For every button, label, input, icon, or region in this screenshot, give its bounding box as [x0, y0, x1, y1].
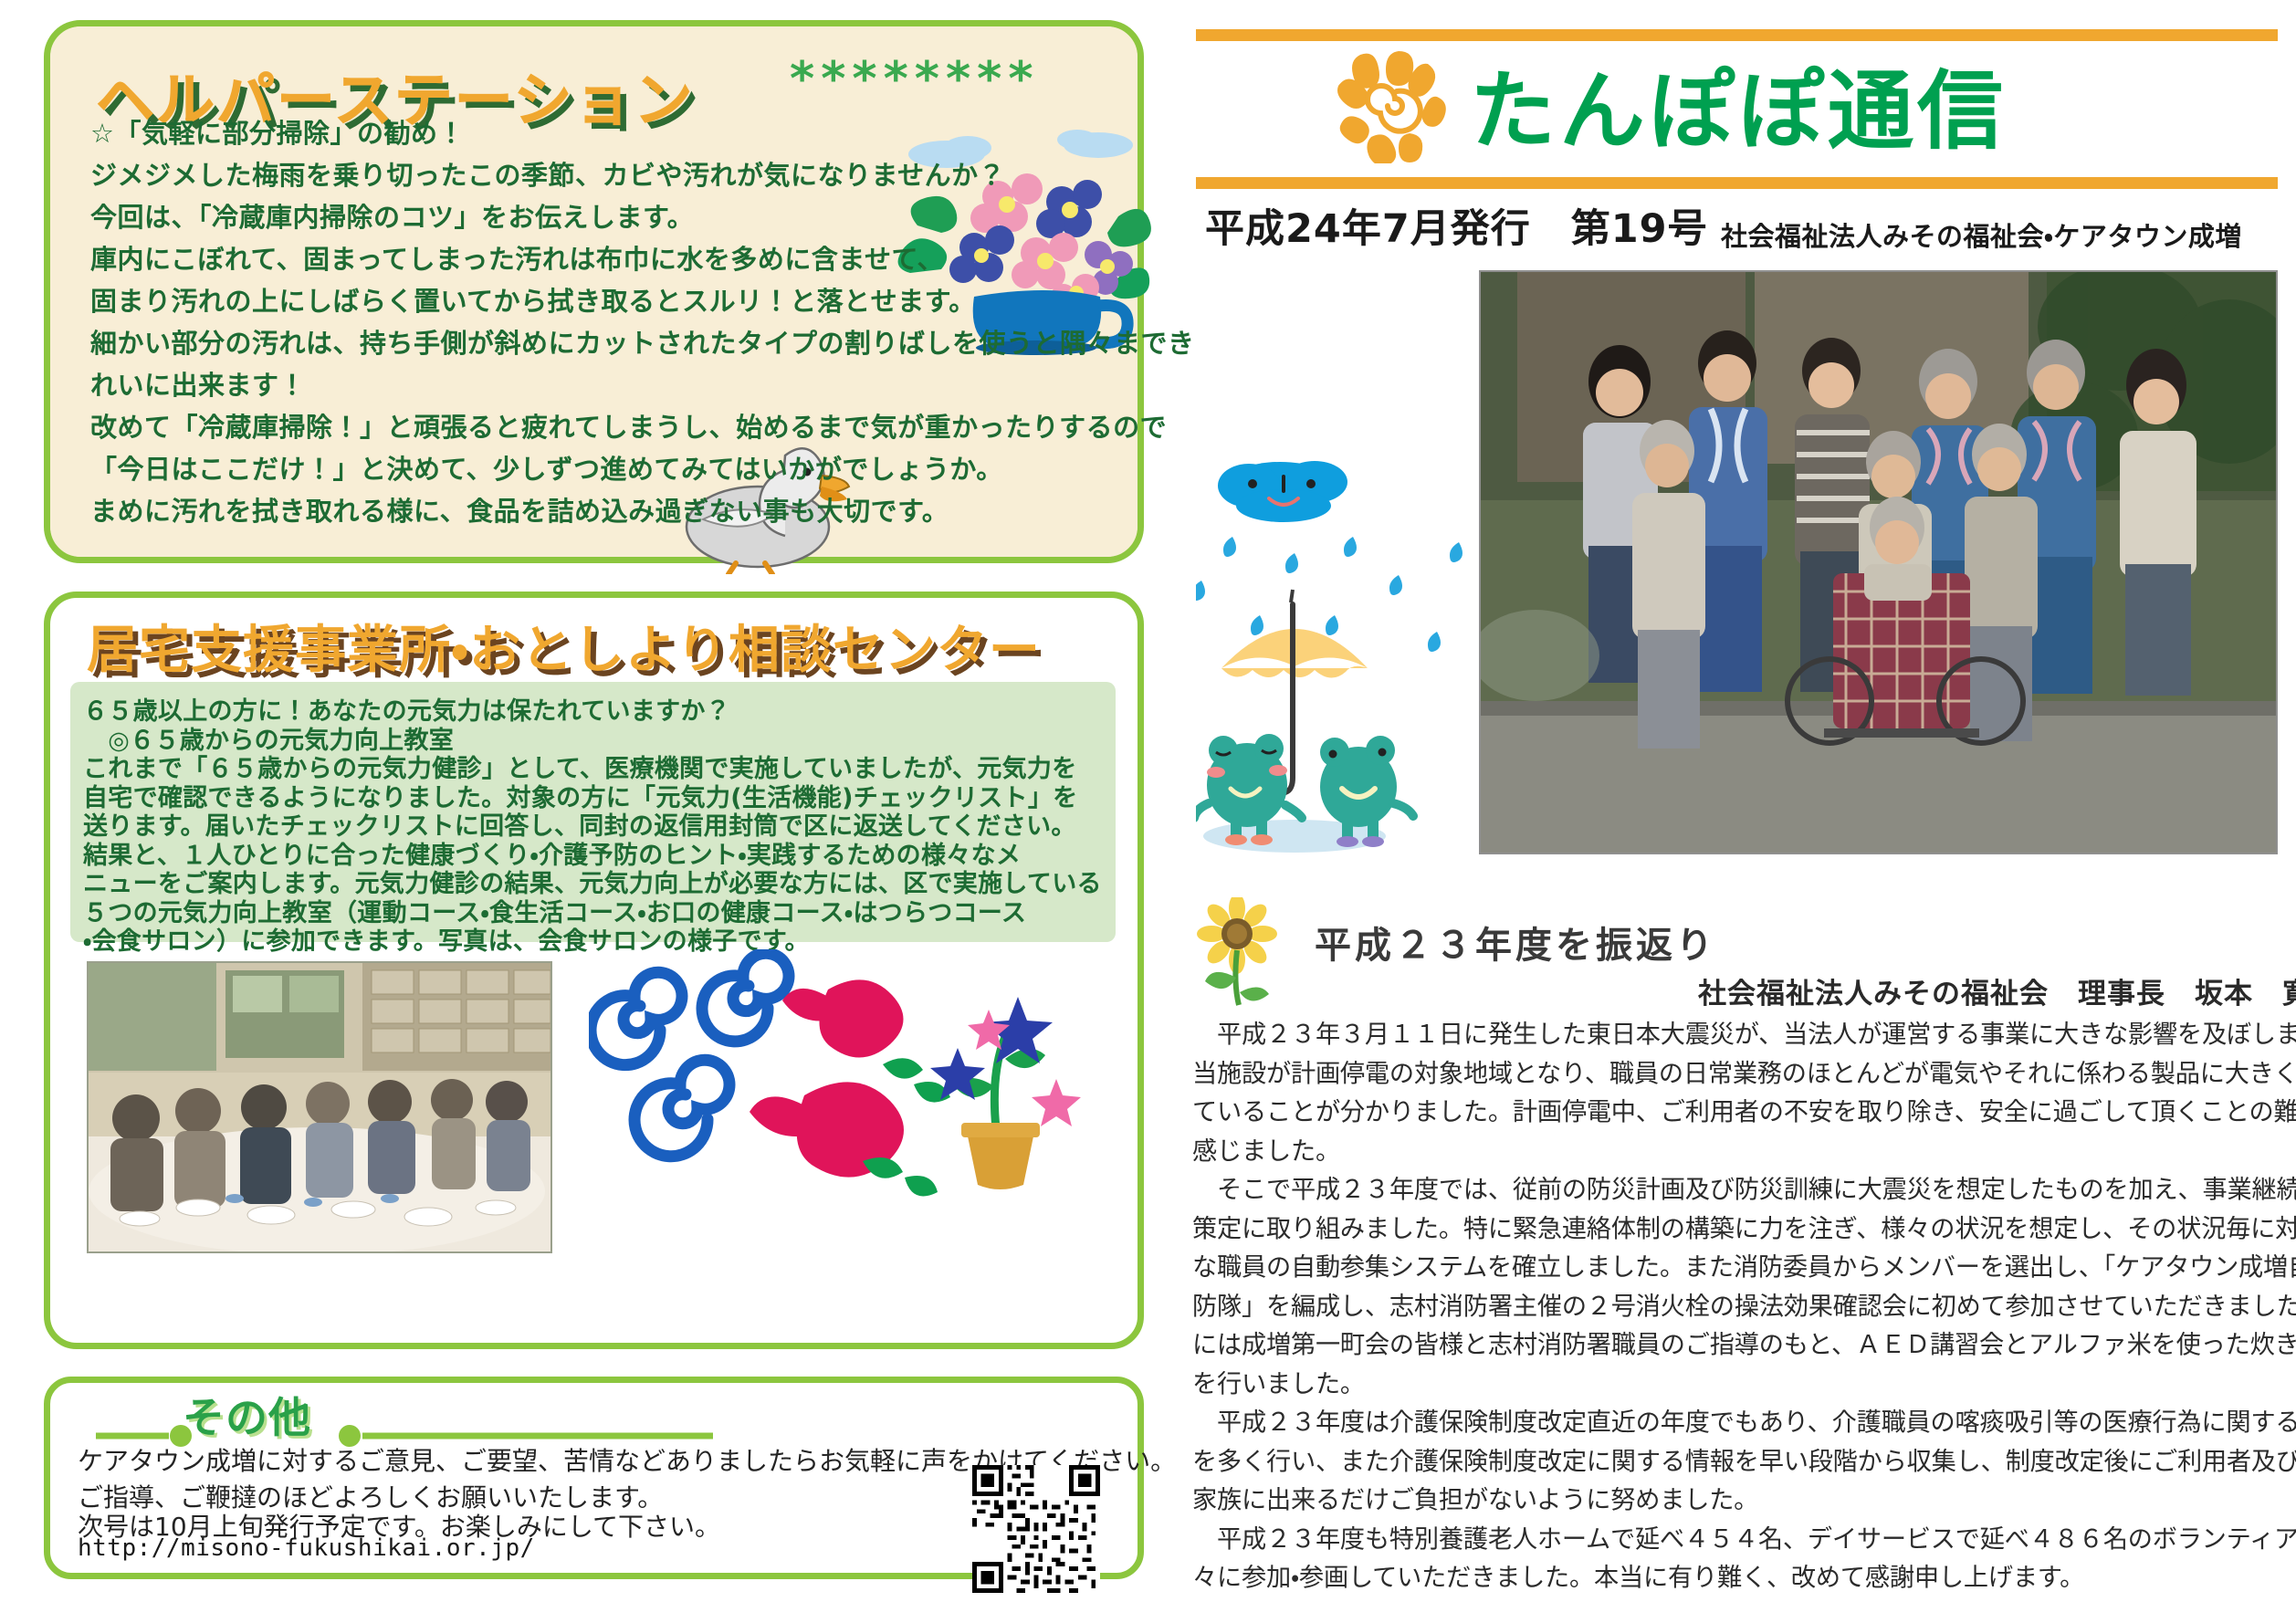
- article-line: 平成２３年度も特別養護老人ホームで延べ４５４名、デイサービスで延べ４８６名のボラ…: [1192, 1521, 2274, 1560]
- home-care-support-panel: 居宅支援事業所・おとしより相談センター ６５歳以上の方に！あなたの元気力は保たれ…: [44, 592, 1144, 1349]
- article-title: 平成２３年度を振返り: [1315, 916, 1716, 969]
- article-line: 平成２３年度は介護保険制度改定直近の年度でもあり、介護職員の喀痰吸引等の医療行為…: [1192, 1404, 2274, 1443]
- other-info-title: その他: [183, 1385, 311, 1445]
- right-column: たんぽぽ通信 平成24年7月発行 第19号 社会福祉法人みその福祉会・ケアタウン…: [1187, 16, 2278, 1586]
- article-line: 策定に取り組みました。特に緊急連絡体制の構築に力を注ぎ、様々の状況を想定し、その…: [1192, 1210, 2274, 1250]
- genki-info-box: ６５歳以上の方に！あなたの元気力は保たれていますか？ ◎６５歳からの元気力向上教…: [70, 682, 1116, 942]
- decorative-artwork: [589, 949, 1127, 1264]
- article-line: 防隊」を編成し、志村消防署主催の２号消火栓の操法効果確認会に初めて参加させていた…: [1192, 1288, 2274, 1327]
- organization-name: 社会福祉法人みその福祉会・ケアタウン成増: [1721, 215, 2242, 254]
- article-line: 当施設が計画停電の対象地域となり、職員の日常業務のほとんどが電気やそれに係わる製…: [1192, 1055, 2274, 1094]
- article-line: 家族に出来るだけご負担がないように努めました。: [1192, 1482, 2274, 1521]
- home-care-support-title: 居宅支援事業所・おとしより相談センター: [87, 609, 1041, 683]
- helper-station-line-5: 固まり汚れの上にしばらく置いてから拭き取るとスルリ！と落とせます。: [90, 280, 976, 319]
- article-line: そこで平成２３年度では、従前の防災計画及び防災訓練に大震災を想定したものを加え、…: [1192, 1171, 2274, 1210]
- masthead-top-bar: [1196, 29, 2278, 41]
- helper-station-line-3: 今回は、「冷蔵庫内掃除のコツ」をお伝えします。: [90, 196, 694, 235]
- article-body: 平成２３年３月１１日に発生した東日本大震災が、当法人が運営する事業に大きな影響を…: [1192, 1016, 2274, 1602]
- article-paragraph-3: 平成２３年度は介護保険制度改定直近の年度でもあり、介護職員の喀痰吸引等の医療行為…: [1192, 1404, 2274, 1521]
- asterisk-decoration: ********: [790, 52, 1040, 107]
- dandelion-sun-logo: [1333, 49, 1452, 163]
- article-line: 々に参加・参画していただきました。本当に有り難く、改めて感謝申し上げます。: [1192, 1559, 2274, 1598]
- helper-station-line-6: 細かい部分の汚れは、持ち手側が斜めにカットされたタイプの割りばしを使うと隅々まで…: [90, 322, 1195, 361]
- newsletter-page: ヘルパーステーション ********: [0, 0, 2296, 1602]
- helper-station-line-10: まめに汚れを拭き取れる様に、食品を詰め込み過ぎない事も大切です。: [90, 490, 949, 529]
- other-info-panel: その他 ケアタウン成増に対するご意見、ご要望、苦情などありましたらお気軽に声をか…: [44, 1377, 1144, 1579]
- helper-station-line-8: 改めて「冷蔵庫掃除！」と頑張ると疲れてしまうし、始めるまで気が重かったりするので: [90, 406, 1167, 445]
- helper-station-panel: ヘルパーステーション ********: [44, 20, 1144, 563]
- article-line: を多く行い、また介護保険制度改定に関する情報を早い段階から収集し、制度改定後にご…: [1192, 1443, 2274, 1482]
- website-url[interactable]: http://misono-fukushikai.or.jp/: [78, 1534, 535, 1562]
- masthead-title: たんぽぽ通信: [1470, 42, 2007, 166]
- hydrangea-teacup-illustration: [890, 118, 1155, 355]
- masthead-bottom-bar: [1196, 177, 2278, 189]
- helper-station-line-9: 「今日はここだけ！」と決めて、少しずつ進めてみてはいかがでしょうか。: [90, 448, 1003, 487]
- helper-station-line-2: ジメジメした梅雨を乗り切ったこの季節、カビや汚れが気になりませんか？: [90, 154, 1005, 193]
- left-column: ヘルパーステーション ********: [27, 16, 1164, 1582]
- group-photo: [1479, 270, 2278, 854]
- article-paragraph-1: 平成２３年３月１１日に発生した東日本大震災が、当法人が運営する事業に大きな影響を…: [1192, 1016, 2274, 1171]
- article-line: ていることが分かりました。計画停電中、ご利用者の不安を取り除き、安全に過ごして頂…: [1192, 1094, 2274, 1133]
- salon-photo: [87, 961, 552, 1253]
- sunflower-icon: [1196, 897, 1283, 1007]
- article-line: またご関係の皆様には、これからも当法人にご支援・ご鞭撻を賜りますよう、心よりお願…: [1192, 1598, 2274, 1602]
- article-byline: 社会福祉法人みその福祉会 理事長 坂本 寛: [1698, 970, 2296, 1011]
- issue-date: 平成24年7月発行 第19号: [1205, 197, 1708, 254]
- article-line: を行いました。: [1192, 1366, 2274, 1405]
- article-line: 感じました。: [1192, 1133, 2274, 1172]
- helper-station-line-7: れいに出来ます！: [90, 364, 306, 403]
- helper-station-line-1: ☆「気軽に部分掃除」の勧め！: [90, 112, 465, 151]
- article-paragraph-5: またご関係の皆様には、これからも当法人にご支援・ご鞭撻を賜りますよう、心よりお願…: [1192, 1598, 2274, 1602]
- article-line: には成増第一町会の皆様と志村消防署職員のご指導のもと、ＡＥＤ講習会とアルファ米を…: [1192, 1326, 2274, 1366]
- article-paragraph-2: そこで平成２３年度では、従前の防災計画及び防災訓練に大震災を想定したものを加え、…: [1192, 1171, 2274, 1404]
- rain-frogs-illustration: [1196, 445, 1479, 856]
- article-line: 平成２３年３月１１日に発生した東日本大震災が、当法人が運営する事業に大きな影響を…: [1192, 1016, 2274, 1055]
- qr-code[interactable]: [972, 1465, 1100, 1593]
- helper-station-line-4: 庫内にこぼれて、固まってしまった汚れは布巾に水を多めに含ませて、: [90, 238, 944, 277]
- article-line: な職員の自動参集システムを確立しました。また消防委員からメンバーを選出し、「ケア…: [1192, 1249, 2274, 1288]
- article-paragraph-4: 平成２３年度も特別養護老人ホームで延べ４５４名、デイサービスで延べ４８６名のボラ…: [1192, 1521, 2274, 1598]
